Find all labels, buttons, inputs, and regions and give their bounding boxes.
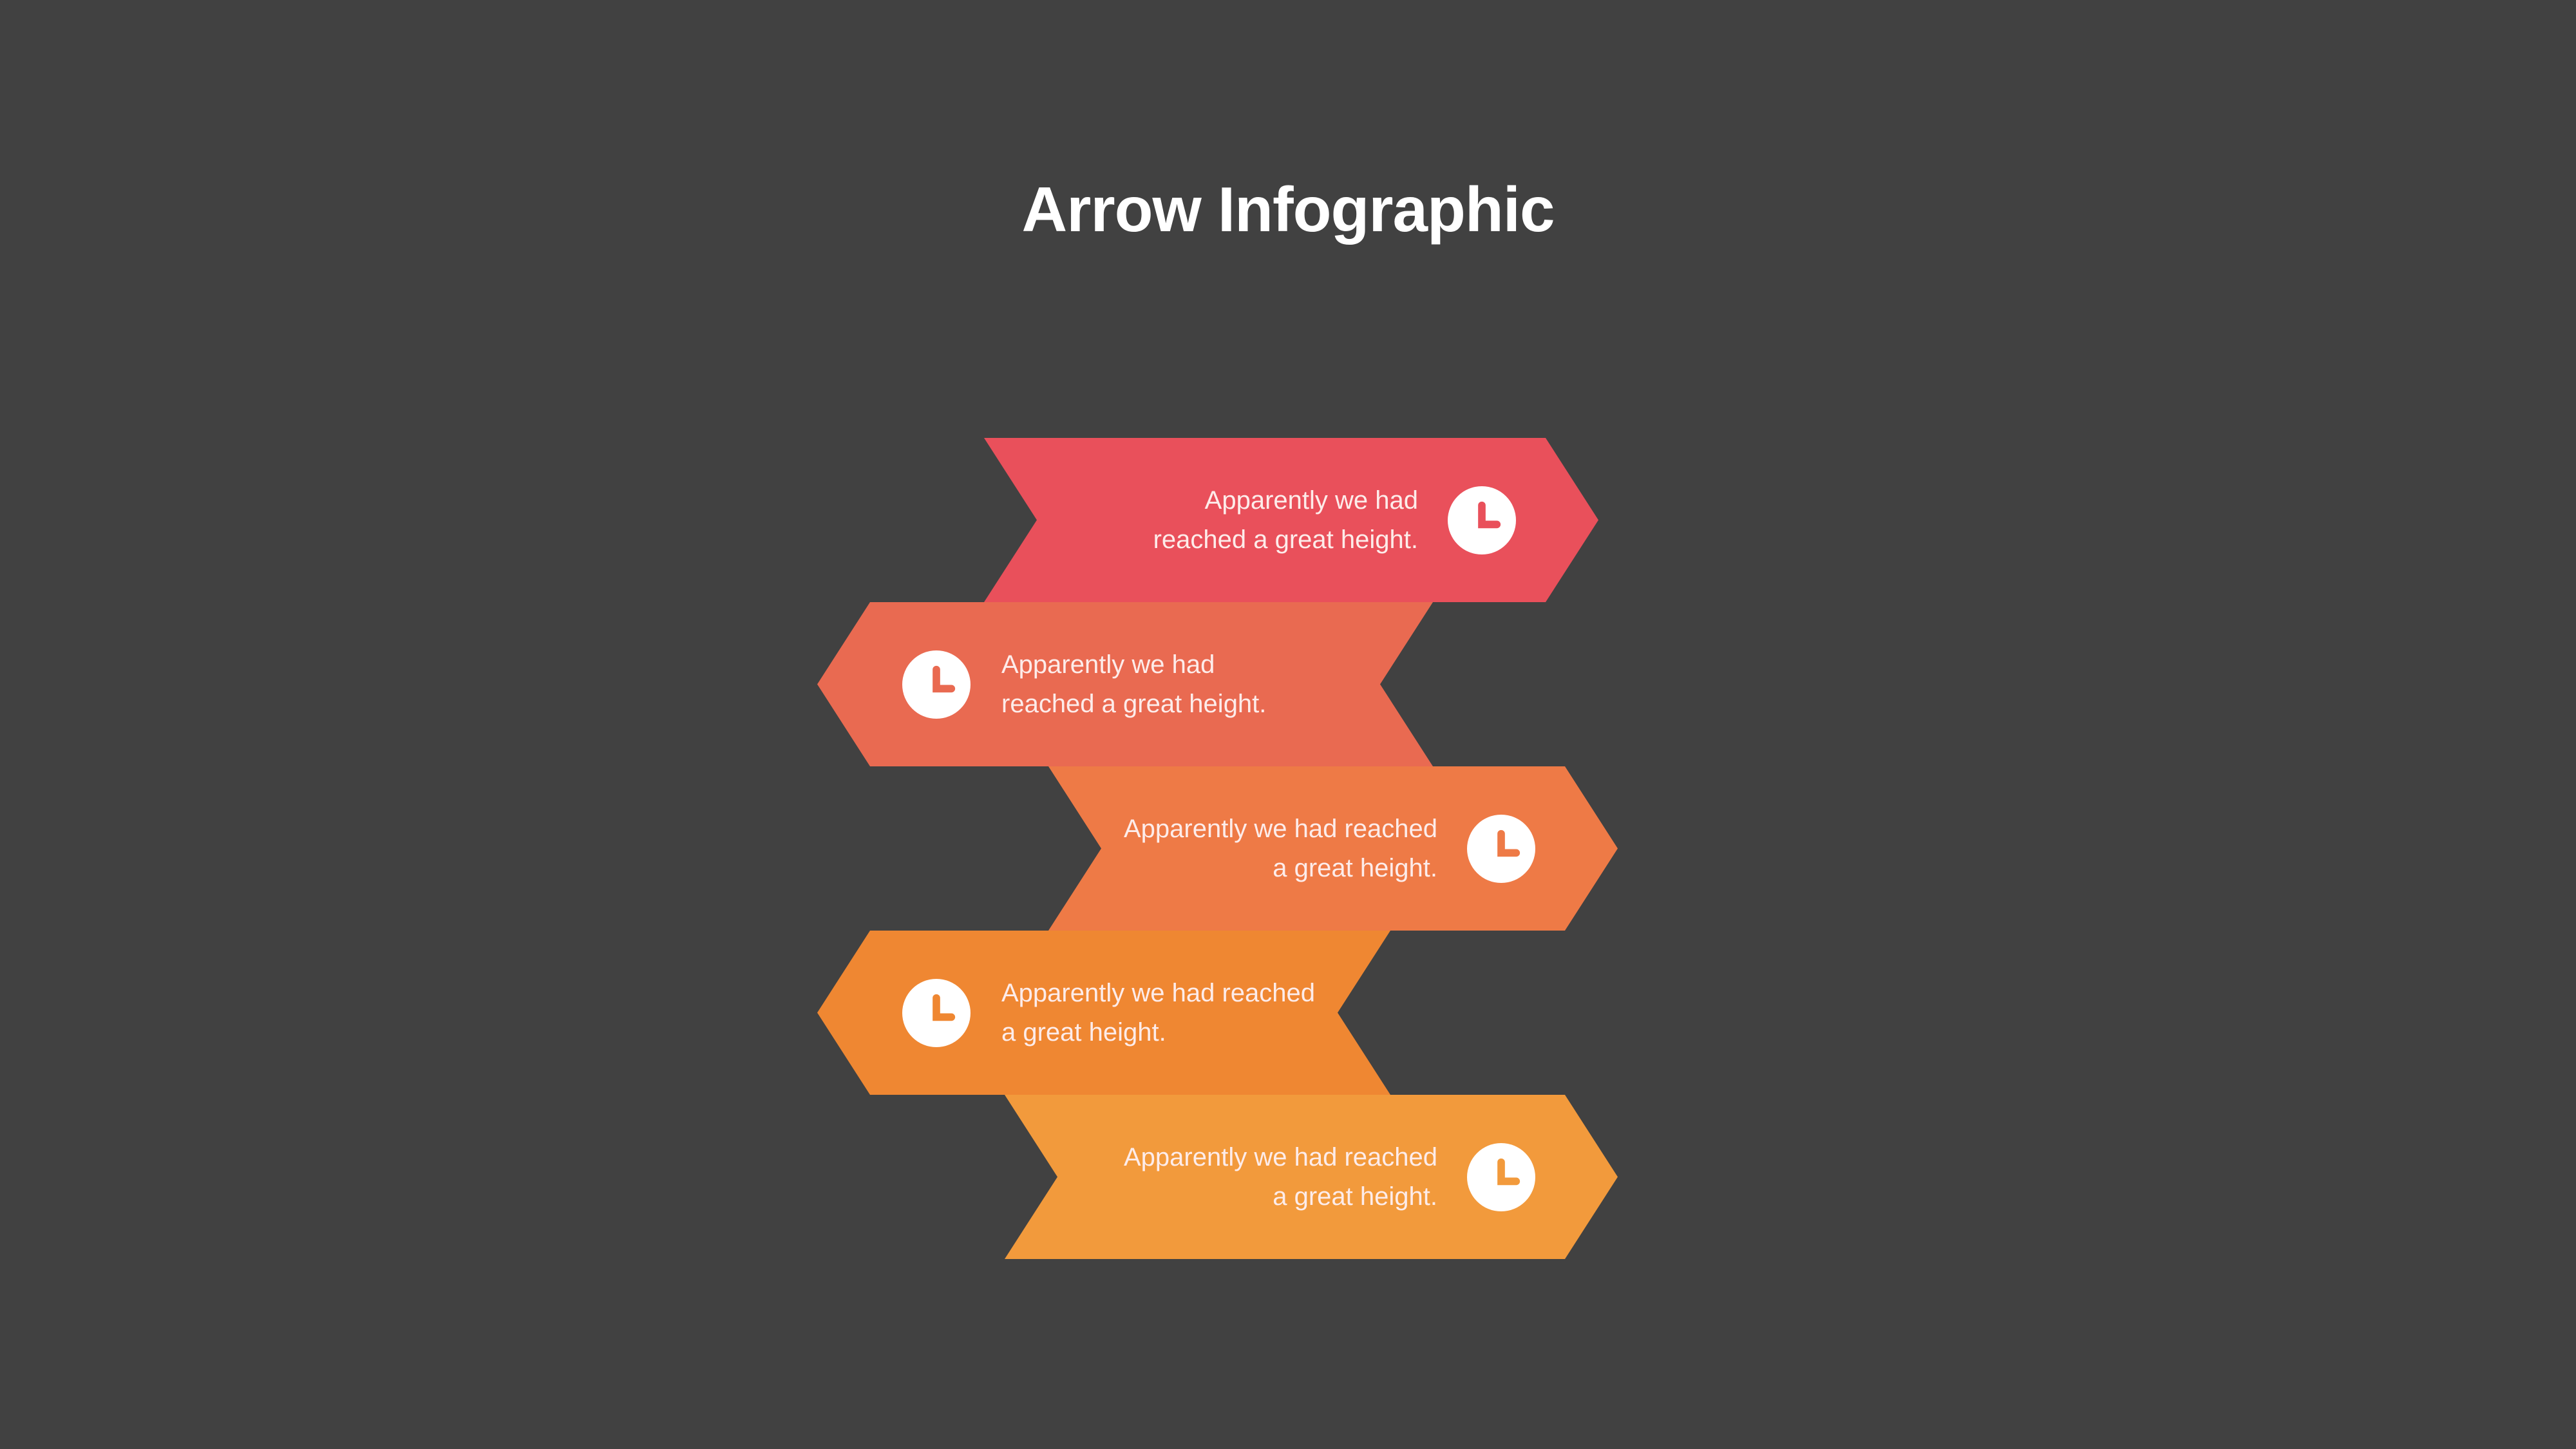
arrow-step-3[interactable]: Apparently we had reached a great height… <box>1048 766 1618 931</box>
arrow-step-4[interactable]: Apparently we had reached a great height… <box>817 931 1390 1095</box>
arrow-step-2[interactable]: Apparently we had reached a great height… <box>817 602 1433 766</box>
page-title: Arrow Infographic <box>0 175 2576 245</box>
arrow-step-4-text: Apparently we had reached a great height… <box>1001 974 1315 1052</box>
clock-icon <box>1467 815 1535 883</box>
arrow-step-5[interactable]: Apparently we had reached a great height… <box>1005 1095 1618 1259</box>
arrow-step-1-text: Apparently we had reached a great height… <box>1153 481 1418 560</box>
arrow-step-1[interactable]: Apparently we had reached a great height… <box>984 438 1598 602</box>
clock-icon <box>902 979 971 1047</box>
arrow-step-3-text: Apparently we had reached a great height… <box>1124 810 1437 888</box>
arrow-step-2-text: Apparently we had reached a great height… <box>1001 645 1266 724</box>
page-title-text: Arrow Infographic <box>1022 175 1555 245</box>
clock-icon <box>1448 486 1516 554</box>
clock-icon <box>1467 1143 1535 1211</box>
slide-canvas: Arrow Infographic Apparently we had reac… <box>0 0 2576 1449</box>
arrow-step-5-text: Apparently we had reached a great height… <box>1124 1138 1437 1217</box>
arrow-infographic: Apparently we had reached a great height… <box>0 438 2576 1259</box>
clock-icon <box>902 650 971 719</box>
